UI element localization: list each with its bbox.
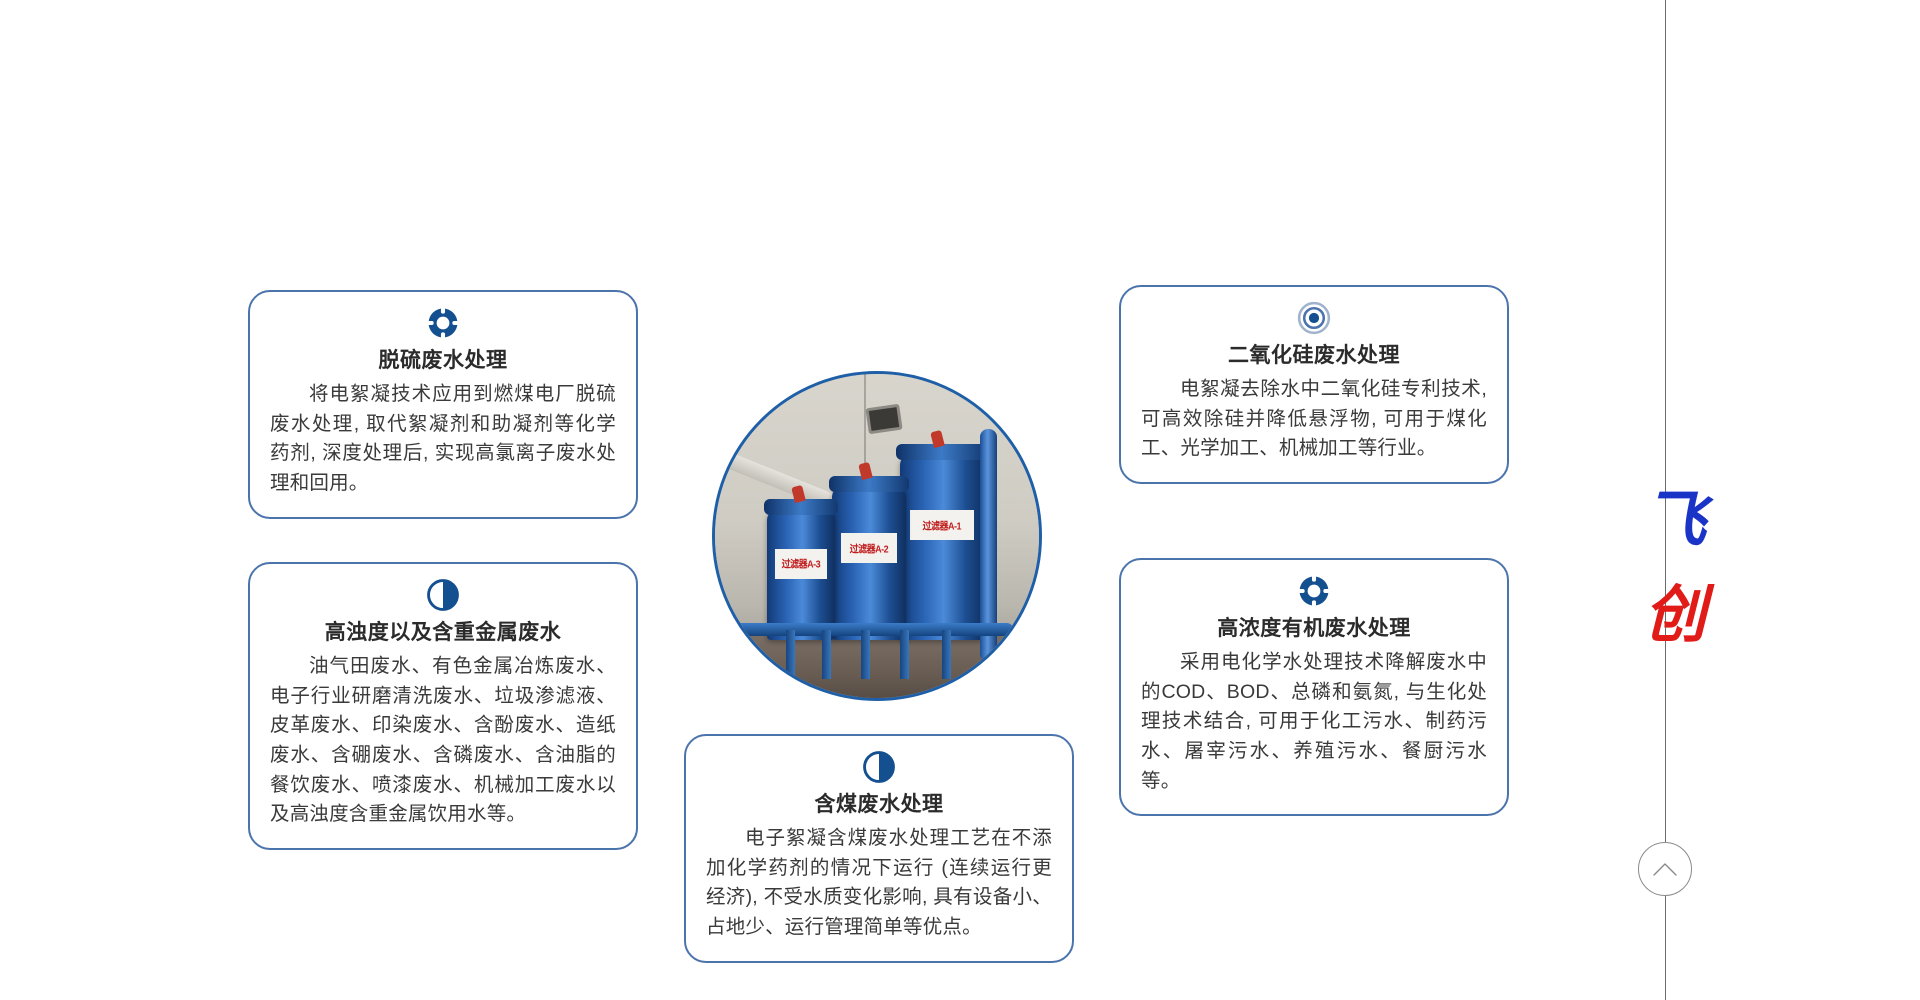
vessel-label-text: 过滤器A-3 xyxy=(782,556,821,571)
card-body: 采用电化学水处理技术降解废水中的COD、BOD、总磷和氨氮, 与生化处理技术结合… xyxy=(1141,648,1487,796)
vessel-cap xyxy=(829,476,909,492)
vessel-label-text: 过滤器A-2 xyxy=(850,541,889,556)
card-high-turbidity[interactable]: 高浊度以及含重金属废水 油气田废水、有色金属冶炼废水、电子行业研磨清洗废水、垃圾… xyxy=(248,562,638,850)
page-root: 脱硫废水处理 将电絮凝技术应用到燃煤电厂脱硫废水处理, 取代絮凝剂和助凝剂等化学… xyxy=(0,0,1920,1000)
vessel-label-text: 过滤器A-1 xyxy=(923,518,962,533)
photo-support-leg xyxy=(900,630,909,679)
photo-support-leg xyxy=(822,630,831,679)
chevron-up-icon xyxy=(1652,861,1678,877)
photo-horizontal-pipe xyxy=(734,623,1013,636)
photo-support-leg xyxy=(942,630,951,679)
vessel-label: 过滤器A-3 xyxy=(775,549,827,579)
target-rings-icon xyxy=(1297,301,1331,335)
photo-lamp xyxy=(866,404,903,434)
card-title: 二氧化硅废水处理 xyxy=(1228,339,1400,369)
photo-support-leg xyxy=(861,630,870,679)
card-organic[interactable]: 高浓度有机废水处理 采用电化学水处理技术降解废水中的COD、BOD、总磷和氨氮,… xyxy=(1119,558,1509,816)
brand-char-chuang: 创 xyxy=(1630,585,1720,647)
card-desulfurization[interactable]: 脱硫废水处理 将电絮凝技术应用到燃煤电厂脱硫废水处理, 取代絮凝剂和助凝剂等化学… xyxy=(248,290,638,519)
vessel-label: 过滤器A-1 xyxy=(910,510,974,540)
card-coal[interactable]: 含煤废水处理 电子絮凝含煤废水处理工艺在不添加化学药剂的情况下运行 (连续运行更… xyxy=(684,734,1074,963)
card-body: 电子絮凝含煤废水处理工艺在不添加化学药剂的情况下运行 (连续运行更经济), 不受… xyxy=(706,824,1052,943)
photo-inner: 过滤器A-1 过滤器A-2 过滤器A-3 xyxy=(715,374,1039,698)
photo-vessel: 过滤器A-2 xyxy=(832,487,907,639)
card-silica[interactable]: 二氧化硅废水处理 电絮凝去除水中二氧化硅专利技术, 可高效除硅并降低悬浮物, 可… xyxy=(1119,285,1509,484)
industrial-water-treatment-vessels-photo: 过滤器A-1 过滤器A-2 过滤器A-3 xyxy=(712,371,1042,701)
card-title: 高浓度有机废水处理 xyxy=(1217,612,1411,642)
card-title: 脱硫废水处理 xyxy=(379,344,508,374)
contrast-half-circle-icon xyxy=(426,578,460,612)
lifebuoy-icon xyxy=(1297,574,1331,608)
card-body: 油气田废水、有色金属冶炼废水、电子行业研磨清洗废水、垃圾渗滤液、皮革废水、印染废… xyxy=(270,652,616,830)
photo-vessel: 过滤器A-3 xyxy=(767,510,835,640)
photo-vessel: 过滤器A-1 xyxy=(900,455,984,640)
card-title: 高浊度以及含重金属废水 xyxy=(325,616,562,646)
lifebuoy-icon xyxy=(426,306,460,340)
card-body: 电絮凝去除水中二氧化硅专利技术, 可高效除硅并降低悬浮物, 可用于煤化工、光学加… xyxy=(1141,375,1487,464)
vessel-cap xyxy=(896,444,987,460)
vessel-label: 过滤器A-2 xyxy=(841,533,898,563)
brand-char-fei: 飞 xyxy=(1630,490,1720,552)
card-title: 含煤废水处理 xyxy=(815,788,944,818)
photo-support-leg xyxy=(786,630,795,679)
back-to-top-button[interactable] xyxy=(1638,842,1692,896)
card-body: 将电絮凝技术应用到燃煤电厂脱硫废水处理, 取代絮凝剂和助凝剂等化学药剂, 深度处… xyxy=(270,380,616,499)
contrast-half-circle-icon xyxy=(862,750,896,784)
